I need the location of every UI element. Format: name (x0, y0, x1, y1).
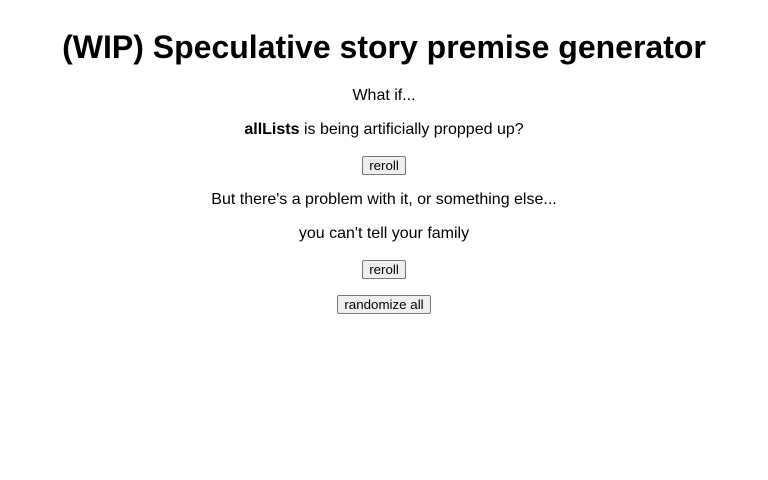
premise-clause-rest: is being artificially propped up? (300, 121, 524, 138)
reroll-premise-row: reroll (8, 156, 760, 175)
reroll-complication-row: reroll (8, 260, 760, 279)
randomize-all-button[interactable]: randomize all (337, 295, 430, 314)
premise-clause: allLists is being artificially propped u… (8, 121, 760, 139)
premise-prompt-label: What if... (8, 87, 760, 105)
page-container: (WIP) Speculative story premise generato… (0, 0, 768, 339)
reroll-complication-button[interactable]: reroll (362, 260, 406, 279)
reroll-premise-button[interactable]: reroll (362, 156, 406, 175)
page-title: (WIP) Speculative story premise generato… (8, 29, 760, 66)
randomize-all-row: randomize all (8, 295, 760, 314)
complication-prompt-label: But there's a problem with it, or someth… (8, 191, 760, 209)
premise-clause-token: allLists (244, 121, 299, 138)
complication-value: you can't tell your family (8, 225, 760, 243)
